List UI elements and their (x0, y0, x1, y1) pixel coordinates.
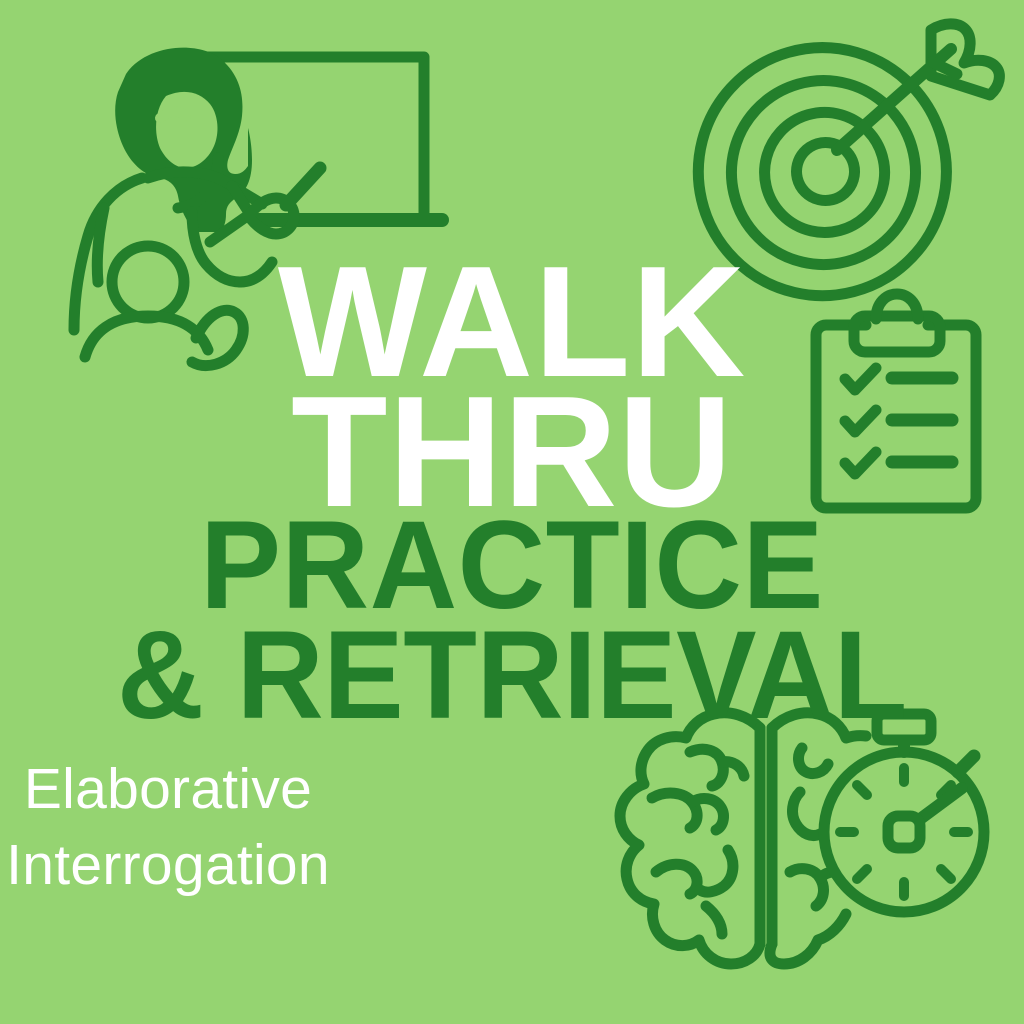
subtitle-block: Elaborative Interrogation (0, 752, 1024, 904)
headline-line-retrieval: & RETRIEVAL (18, 613, 1006, 738)
subtitle-line-2: Interrogation (0, 828, 473, 904)
poster-canvas: WALK THRU PRACTICE & RETRIEVAL Elaborati… (0, 0, 1024, 1024)
subtitle-line-1: Elaborative (0, 752, 473, 828)
text-layer: WALK THRU PRACTICE & RETRIEVAL Elaborati… (0, 0, 1024, 1024)
